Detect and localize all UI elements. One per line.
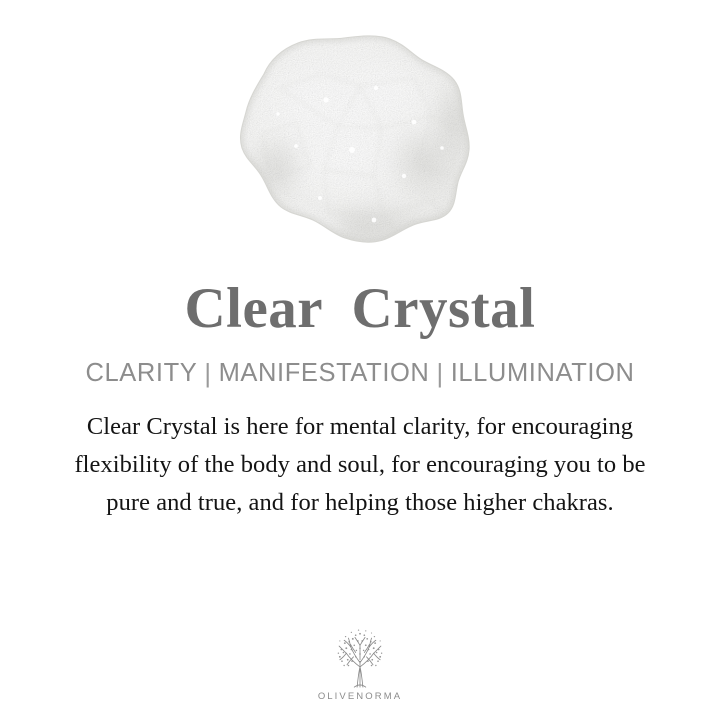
brand-wordmark: OLIVENORMA bbox=[318, 691, 402, 702]
keyword-clarity: CLARITY bbox=[85, 359, 197, 387]
keyword-line: CLARITY|MANIFESTATION|ILLUMINATION bbox=[0, 340, 720, 388]
page-title: Clear Crystal bbox=[0, 278, 720, 340]
keyword-separator: | bbox=[197, 359, 218, 389]
tree-icon bbox=[323, 628, 397, 690]
keyword-separator: | bbox=[429, 359, 450, 389]
hero-image-area bbox=[0, 0, 720, 278]
keyword-manifestation: MANIFESTATION bbox=[219, 359, 430, 387]
clear-crystal-card: Clear Crystal CLARITY|MANIFESTATION|ILLU… bbox=[0, 0, 720, 720]
crystal-stone-image bbox=[218, 30, 486, 264]
description-text: Clear Crystal is here for mental clarity… bbox=[50, 388, 670, 522]
keyword-illumination: ILLUMINATION bbox=[451, 359, 635, 387]
crystal-stone-illustration bbox=[218, 30, 486, 264]
brand-logo: OLIVENORMA bbox=[0, 628, 720, 702]
